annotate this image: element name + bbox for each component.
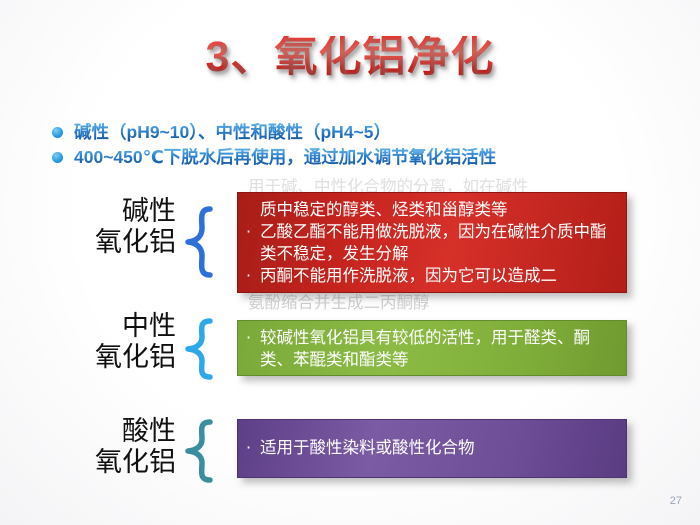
curly-brace-icon: [183, 419, 217, 483]
line-marker: ·: [246, 327, 260, 348]
bullet-dot-icon: [52, 127, 63, 138]
overflow-text-below-red-box: 氨酚缩合并生成二丙酮醇: [248, 292, 628, 314]
group-label-line2: 氧化铝: [10, 342, 176, 373]
slide-canvas: 3、氧化铝净化 碱性（pH9~10）、中性和酸性（pH4~5） 400~450℃…: [0, 0, 700, 525]
group-label-line2: 氧化铝: [10, 227, 176, 258]
line-marker: ·: [246, 437, 260, 458]
line-text: 质中稳定的醇类、烃类和甾醇类等: [260, 199, 616, 221]
line-text: 适用于酸性染料或酸性化合物: [260, 437, 616, 459]
page-number: 27: [670, 495, 682, 507]
content-box-acidic: · 适用于酸性染料或酸性化合物: [237, 419, 627, 478]
bullet-label: 400~450℃下脱水后再使用，通过加水调节氧化铝活性: [74, 148, 496, 167]
bullet-dot-icon: [52, 152, 63, 163]
page-title: 3、氧化铝净化: [0, 36, 700, 79]
content-line: 质中稳定的醇类、烃类和甾醇类等: [246, 199, 616, 221]
group-label-alkaline: 碱性 氧化铝: [10, 196, 176, 258]
content-box-neutral: · 较碱性氧化铝具有较低的活性，用于醛类、酮类、苯醌类和酯类等: [237, 320, 627, 376]
content-line: · 丙酮不能用作洗脱液，因为它可以造成二: [246, 265, 616, 287]
group-label-line1: 中性: [10, 311, 176, 342]
bullet-item-1: 400~450℃下脱水后再使用，通过加水调节氧化铝活性: [52, 145, 662, 170]
bullet-label: 碱性（pH9~10）、中性和酸性（pH4~5）: [74, 123, 391, 142]
group-label-line1: 碱性: [10, 196, 176, 227]
content-line: · 较碱性氧化铝具有较低的活性，用于醛类、酮类、苯醌类和酯类等: [246, 327, 616, 371]
content-line: · 适用于酸性染料或酸性化合物: [246, 437, 616, 459]
curly-brace-icon: [183, 318, 217, 380]
line-marker: ·: [246, 265, 260, 286]
group-label-line2: 氧化铝: [10, 447, 176, 478]
line-text: 乙酸乙酯不能用做洗脱液，因为在碱性介质中酯类不稳定，发生分解: [260, 221, 616, 265]
group-label-neutral: 中性 氧化铝: [10, 311, 176, 373]
curly-brace-icon: [183, 206, 217, 278]
group-label-acidic: 酸性 氧化铝: [10, 416, 176, 478]
line-text: 丙酮不能用作洗脱液，因为它可以造成二: [260, 265, 616, 287]
content-box-alkaline: 质中稳定的醇类、烃类和甾醇类等 · 乙酸乙酯不能用做洗脱液，因为在碱性介质中酯类…: [237, 192, 627, 293]
bullet-list: 碱性（pH9~10）、中性和酸性（pH4~5） 400~450℃下脱水后再使用，…: [52, 120, 662, 170]
line-marker: ·: [246, 221, 260, 242]
bullet-item-0: 碱性（pH9~10）、中性和酸性（pH4~5）: [52, 120, 662, 145]
group-label-line1: 酸性: [10, 416, 176, 447]
line-text: 较碱性氧化铝具有较低的活性，用于醛类、酮类、苯醌类和酯类等: [260, 327, 616, 371]
content-line: · 乙酸乙酯不能用做洗脱液，因为在碱性介质中酯类不稳定，发生分解: [246, 221, 616, 265]
